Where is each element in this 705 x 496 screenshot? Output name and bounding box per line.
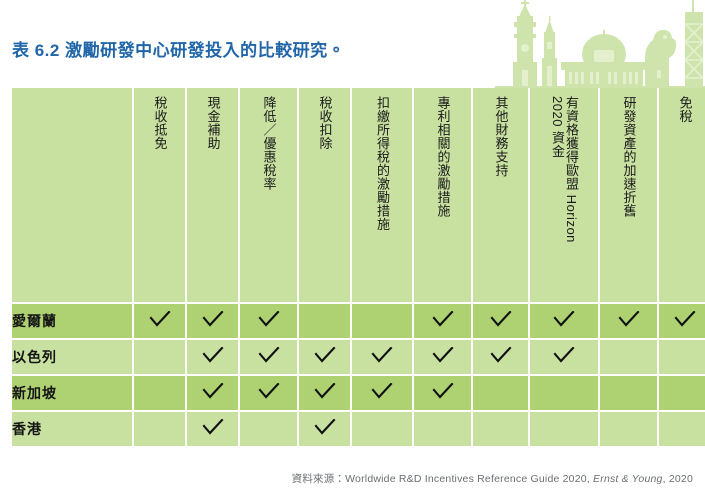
checkmark-icon [202, 347, 224, 363]
col-header-line: 免稅 [677, 96, 691, 123]
col-header-stack: 現金補助 [205, 96, 219, 302]
cell-ireland-tax-credit [134, 304, 187, 340]
cell-hongkong-reduced-rate [240, 412, 299, 446]
col-header-cash-grant: 現金補助 [187, 88, 240, 304]
row-label-singapore: 新加坡 [12, 376, 134, 412]
cell-singapore-patent-incentive [414, 376, 473, 412]
cell-hongkong-eu-horizon-2020 [530, 412, 600, 446]
cell-singapore-eu-horizon-2020 [530, 376, 600, 412]
col-header-tax-credit: 稅收抵免 [134, 88, 187, 304]
col-header-line: 稅收抵免 [152, 96, 166, 150]
checkmark-icon [553, 311, 575, 327]
col-header-line: 其他財務支持 [493, 96, 507, 177]
checkmark-icon [202, 419, 224, 435]
checkmark-icon [258, 383, 280, 399]
col-header-tax-deduction: 稅收扣除 [299, 88, 352, 304]
cell-singapore-tax-exemption [659, 376, 705, 412]
cell-ireland-tax-deduction [299, 304, 352, 340]
source-prefix: 資料來源：Worldwide R&D Incentives Reference … [292, 473, 593, 485]
table-row: 香港 [12, 412, 705, 446]
col-header-eu-horizon-2020: 有資格獲得歐盟 Horizon 2020 資金 [530, 88, 600, 304]
cell-israel-patent-incentive [414, 340, 473, 376]
cell-singapore-other-financial-support [473, 376, 530, 412]
checkmark-icon [618, 311, 640, 327]
col-header-stack: 其他財務支持 [493, 96, 507, 302]
checkmark-icon [674, 311, 696, 327]
checkmark-icon [432, 311, 454, 327]
checkmark-icon [432, 383, 454, 399]
col-header-patent-incentive: 專利相關的激勵措施 [414, 88, 473, 304]
cell-singapore-reduced-rate [240, 376, 299, 412]
checkmark-icon [258, 311, 280, 327]
table-header-row: 稅收抵免 現金補助 降低／優惠稅率 稅收扣除 [12, 88, 705, 304]
col-header-stack: 稅收抵免 [152, 96, 166, 302]
checkmark-icon [314, 347, 336, 363]
cell-israel-other-financial-support [473, 340, 530, 376]
col-header-other-financial-support: 其他財務支持 [473, 88, 530, 304]
cell-singapore-accelerated-depreciation [600, 376, 659, 412]
checkmark-icon [432, 347, 454, 363]
checkmark-icon [314, 383, 336, 399]
col-header-accelerated-depreciation: 研發資產的加速折舊 [600, 88, 659, 304]
cell-hongkong-tax-exemption [659, 412, 705, 446]
col-header-stack: 降低／優惠稅率 [261, 96, 275, 302]
cell-ireland-patent-incentive [414, 304, 473, 340]
col-header-line: 降低／優惠稅率 [261, 96, 275, 191]
row-label-ireland: 愛爾蘭 [12, 304, 134, 340]
cell-ireland-tax-exemption [659, 304, 705, 340]
col-header-stack: 專利相關的激勵措施 [435, 96, 449, 302]
row-label-hongkong: 香港 [12, 412, 134, 446]
col-header-line: 專利相關的激勵措施 [435, 96, 449, 218]
table-row: 以色列 [12, 340, 705, 376]
checkmark-icon [371, 383, 393, 399]
table-row: 愛爾蘭 [12, 304, 705, 340]
table-head: 稅收抵免 現金補助 降低／優惠稅率 稅收扣除 [12, 88, 705, 304]
col-header-line: 有資格獲得歐盟 Horizon [564, 96, 578, 243]
checkmark-icon [490, 311, 512, 327]
cell-hongkong-tax-deduction [299, 412, 352, 446]
cell-singapore-cash-grant [187, 376, 240, 412]
checkmark-icon [490, 347, 512, 363]
table-body: 愛爾蘭以色列新加坡香港 [12, 304, 705, 446]
col-header-stack: 有資格獲得歐盟 Horizon 2020 資金 [550, 96, 578, 302]
checkmark-icon [553, 347, 575, 363]
cell-ireland-payroll-incentive [352, 304, 414, 340]
col-header-stack: 稅收扣除 [317, 96, 331, 302]
cell-ireland-accelerated-depreciation [600, 304, 659, 340]
cell-ireland-reduced-rate [240, 304, 299, 340]
city-skyline-illustration [495, 0, 705, 92]
col-header-stack: 研發資產的加速折舊 [621, 96, 635, 302]
incentive-comparison-table: 稅收抵免 現金補助 降低／優惠稅率 稅收扣除 [12, 88, 705, 446]
cell-israel-tax-credit [134, 340, 187, 376]
cell-israel-accelerated-depreciation [600, 340, 659, 376]
cell-israel-payroll-incentive [352, 340, 414, 376]
cell-israel-eu-horizon-2020 [530, 340, 600, 376]
cell-ireland-eu-horizon-2020 [530, 304, 600, 340]
cell-hongkong-accelerated-depreciation [600, 412, 659, 446]
cell-hongkong-patent-incentive [414, 412, 473, 446]
row-label-israel: 以色列 [12, 340, 134, 376]
col-header-line: 現金補助 [205, 96, 219, 150]
cell-ireland-cash-grant [187, 304, 240, 340]
cell-israel-tax-deduction [299, 340, 352, 376]
col-header-stack: 免稅 [677, 96, 691, 302]
checkmark-icon [202, 311, 224, 327]
page-title: 表 6.2 激勵研發中心研發投入的比較研究。 [12, 36, 345, 61]
source-note: 資料來源：Worldwide R&D Incentives Reference … [292, 471, 693, 486]
cell-israel-cash-grant [187, 340, 240, 376]
col-header-tax-exemption: 免稅 [659, 88, 705, 304]
cell-singapore-tax-credit [134, 376, 187, 412]
table-corner-cell [12, 88, 134, 304]
checkmark-icon [371, 347, 393, 363]
cell-hongkong-other-financial-support [473, 412, 530, 446]
col-header-line: 扣繳所得稅的激勵措施 [375, 96, 389, 231]
cell-hongkong-payroll-incentive [352, 412, 414, 446]
cell-hongkong-tax-credit [134, 412, 187, 446]
col-header-payroll-incentive: 扣繳所得稅的激勵措施 [352, 88, 414, 304]
checkmark-icon [149, 311, 171, 327]
cell-singapore-tax-deduction [299, 376, 352, 412]
checkmark-icon [314, 419, 336, 435]
cell-hongkong-cash-grant [187, 412, 240, 446]
incentive-table-wrap: 稅收抵免 現金補助 降低／優惠稅率 稅收扣除 [12, 88, 693, 446]
col-header-line: 研發資產的加速折舊 [621, 96, 635, 218]
cell-ireland-other-financial-support [473, 304, 530, 340]
skyline-svg [495, 0, 705, 92]
cell-israel-tax-exemption [659, 340, 705, 376]
header-band: 表 6.2 激勵研發中心研發投入的比較研究。 [0, 0, 705, 86]
cell-singapore-payroll-incentive [352, 376, 414, 412]
table-row: 新加坡 [12, 376, 705, 412]
source-publisher: Ernst & Young [593, 473, 663, 485]
checkmark-icon [258, 347, 280, 363]
col-header-line-secondary: 2020 資金 [550, 96, 564, 158]
checkmark-icon [202, 383, 224, 399]
col-header-line: 稅收扣除 [317, 96, 331, 150]
source-suffix: , 2020 [663, 473, 693, 485]
cell-israel-reduced-rate [240, 340, 299, 376]
col-header-stack: 扣繳所得稅的激勵措施 [375, 96, 389, 302]
col-header-reduced-rate: 降低／優惠稅率 [240, 88, 299, 304]
